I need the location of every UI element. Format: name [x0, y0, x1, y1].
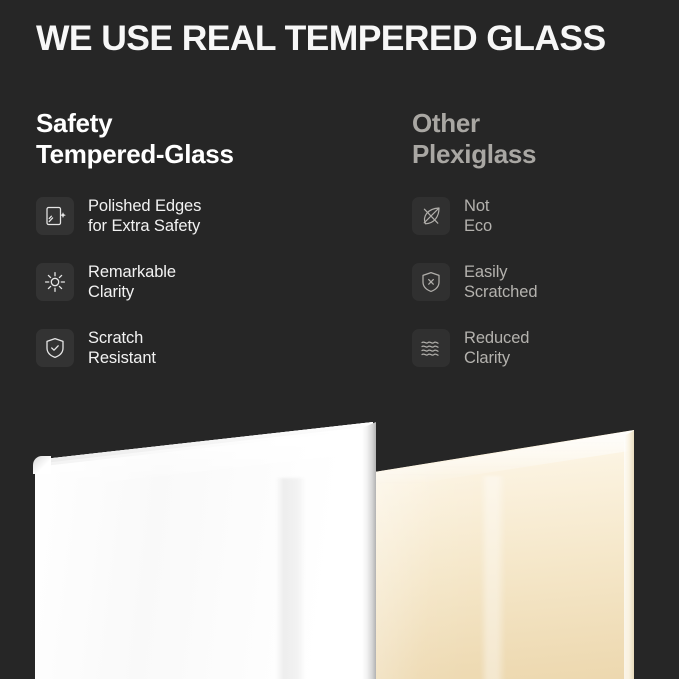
- plexiglass-panel-image: [352, 424, 642, 679]
- feature-line2: for Extra Safety: [88, 216, 201, 236]
- feature-line2: Clarity: [88, 282, 176, 302]
- comparison-infographic: WE USE REAL TEMPERED GLASS Safety Temper…: [0, 0, 679, 679]
- tempered-glass-panel-right-edge: [362, 422, 376, 679]
- feature-label-not-eco: Not Eco: [464, 196, 492, 236]
- feature-polished-edges: Polished Edges for Extra Safety: [36, 192, 376, 240]
- column-plexiglass: Other Plexiglass Not Eco: [412, 108, 662, 390]
- feature-line1: Easily: [464, 262, 537, 282]
- feature-line2: Resistant: [88, 348, 156, 368]
- column-tempered-glass: Safety Tempered-Glass Polished Edges for…: [36, 108, 376, 390]
- shield-check-icon: [36, 329, 74, 367]
- feature-easily-scratched: Easily Scratched: [412, 258, 662, 306]
- feature-remarkable-clarity: Remarkable Clarity: [36, 258, 376, 306]
- feature-line2: Eco: [464, 216, 492, 236]
- column-heading-line1: Safety: [36, 108, 376, 139]
- feature-label-polished-edges: Polished Edges for Extra Safety: [88, 196, 201, 236]
- column-heading-tempered-glass: Safety Tempered-Glass: [36, 108, 376, 170]
- plexiglass-panel-right-edge: [624, 430, 635, 679]
- feature-line1: Reduced: [464, 328, 529, 348]
- column-heading-line1: Other: [412, 108, 662, 139]
- column-heading-line2: Tempered-Glass: [36, 139, 376, 170]
- tempered-glass-panel-seam: [276, 478, 306, 679]
- feature-label-remarkable-clarity: Remarkable Clarity: [88, 262, 176, 302]
- leaf-crossed-out-icon: [412, 197, 450, 235]
- shield-x-icon: [412, 263, 450, 301]
- wavy-lines-icon: [412, 329, 450, 367]
- feature-reduced-clarity: Reduced Clarity: [412, 324, 662, 372]
- feature-line1: Scratch: [88, 328, 156, 348]
- feature-line1: Polished Edges: [88, 196, 201, 216]
- column-heading-line2: Plexiglass: [412, 139, 662, 170]
- feature-not-eco: Not Eco: [412, 192, 662, 240]
- plexiglass-panel-seam: [480, 476, 506, 679]
- feature-label-scratch-resistant: Scratch Resistant: [88, 328, 156, 368]
- tempered-glass-panel-image: [18, 400, 384, 679]
- tempered-glass-panel-corner: [33, 456, 51, 474]
- feature-line1: Remarkable: [88, 262, 176, 282]
- feature-line2: Scratched: [464, 282, 537, 302]
- feature-line2: Clarity: [464, 348, 529, 368]
- feature-label-reduced-clarity: Reduced Clarity: [464, 328, 529, 368]
- page-title: WE USE REAL TEMPERED GLASS: [36, 18, 656, 59]
- feature-scratch-resistant: Scratch Resistant: [36, 324, 376, 372]
- polished-edge-sparkle-icon: [36, 197, 74, 235]
- feature-line1: Not: [464, 196, 492, 216]
- feature-list-plexiglass: Not Eco Easily Scratched: [412, 192, 662, 372]
- sun-brightness-icon: [36, 263, 74, 301]
- product-comparison-photo: [0, 392, 679, 679]
- feature-list-tempered-glass: Polished Edges for Extra Safety Remarkab…: [36, 192, 376, 372]
- column-heading-plexiglass: Other Plexiglass: [412, 108, 662, 170]
- feature-label-easily-scratched: Easily Scratched: [464, 262, 537, 302]
